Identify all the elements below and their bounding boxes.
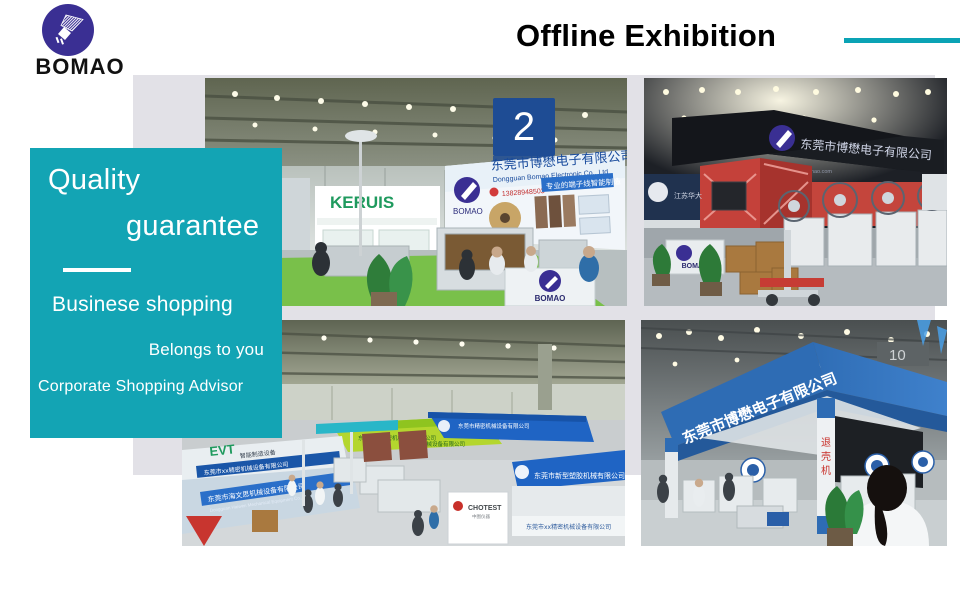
svg-text:10: 10: [889, 347, 906, 364]
quality-guarantee-panel: Quality guarantee Businese shopping Belo…: [30, 148, 282, 438]
panel-tagline: Belongs to you: [149, 340, 264, 360]
page-header: BOMAO Offline Exhibition: [0, 0, 960, 78]
exhibition-photo-top-right[interactable]: 东莞市博懋电子有限公司 www.dgbomao.com 江苏华大: [644, 78, 947, 306]
page-title: Offline Exhibition: [516, 18, 776, 54]
exhibition-photo-bottom-right[interactable]: 10 东莞市博懋电子有限公司 退 壳 机: [641, 320, 947, 546]
panel-footnote: Corporate Shopping Advisor: [38, 378, 243, 396]
svg-text:东莞市xx精密机械设备有限公司: 东莞市xx精密机械设备有限公司: [526, 523, 611, 531]
svg-text:退: 退: [821, 437, 831, 449]
svg-text:东莞市新型塑胶机械有限公司: 东莞市新型塑胶机械有限公司: [534, 471, 625, 480]
panel-headline-line2: guarantee: [126, 210, 259, 243]
panel-headline-line1: Quality: [48, 164, 140, 197]
svg-text:江苏华大: 江苏华大: [674, 191, 702, 200]
lamp-bulb-icon: [52, 13, 86, 47]
svg-text:东莞市精密机械设备有限公司: 东莞市精密机械设备有限公司: [458, 422, 530, 430]
logo-wordmark: BOMAO: [24, 56, 136, 78]
svg-text:2: 2: [513, 105, 535, 149]
svg-text:壳: 壳: [821, 450, 831, 463]
svg-text:BOMAO: BOMAO: [535, 294, 566, 303]
panel-subhead: Businese shopping: [52, 293, 233, 317]
svg-text:EVT: EVT: [209, 441, 236, 459]
panel-divider: [63, 268, 131, 272]
photo-top-right-image: 东莞市博懋电子有限公司 www.dgbomao.com 江苏华大: [644, 78, 947, 306]
title-rule: [844, 38, 960, 43]
svg-text:机: 机: [821, 464, 831, 477]
brand-logo[interactable]: BOMAO: [24, 4, 136, 78]
svg-text:KERUIS: KERUIS: [330, 193, 394, 212]
photo-bottom-right-image: 10 东莞市博懋电子有限公司 退 壳 机: [641, 320, 947, 546]
svg-text:中图仪器: 中图仪器: [472, 513, 490, 520]
svg-text:CHOTEST: CHOTEST: [468, 505, 502, 512]
logo-circle: [42, 4, 94, 56]
svg-text:BOMAO: BOMAO: [453, 207, 483, 216]
